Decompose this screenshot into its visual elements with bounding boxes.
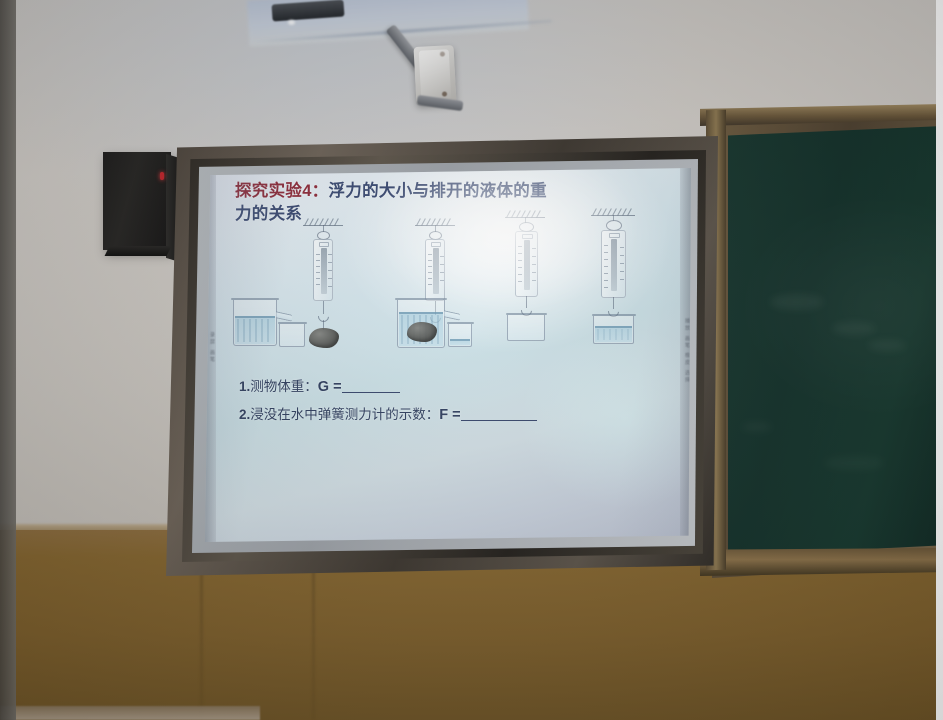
bullet-variable: F =: [439, 407, 460, 423]
setup-1-weigh-object-in-air: [227, 216, 352, 366]
left-edge-shadow: [0, 0, 16, 720]
beaker-spout: [444, 310, 460, 320]
collecting-cup: [279, 324, 305, 347]
list-item: 2.浸没在水中弹簧测力计的示数：F =: [239, 401, 669, 429]
setup-4-weigh-cup-with-displaced-water: [561, 208, 661, 358]
answer-blank[interactable]: [342, 381, 400, 393]
chalkboard-chalk-tray: [700, 548, 943, 576]
slide-title-label-blue: 浮力的大小与排开的液体的重: [328, 182, 546, 200]
beaker-spout: [276, 311, 292, 321]
slide-title-label-red: 探究实验4：: [235, 182, 328, 200]
list-item: 1.测物体重：G =: [239, 373, 669, 401]
stone-object: [309, 328, 339, 348]
bullet-text: 浸没在水中弹簧测力计的示数：: [250, 407, 439, 422]
collecting-cup: [448, 324, 472, 347]
classroom-photo: 录屏 画笔 播放 画笔 橡皮 选择 探究实验4：浮力的大小与排开的液体的重 力的…: [0, 0, 943, 720]
slide-bullets: 1.测物体重：G = 2.浸没在水中弹簧测力计的示数：F =: [239, 373, 669, 430]
chalkboard-surface[interactable]: [728, 126, 943, 556]
board-assembly: 录屏 画笔 播放 画笔 橡皮 选择 探究实验4：浮力的大小与排开的液体的重 力的…: [0, 0, 943, 720]
spring-scale: [515, 231, 538, 297]
setup-2-object-submerged: [345, 216, 470, 366]
spring-scale: [425, 239, 445, 301]
empty-cup: [507, 315, 545, 341]
bullet-variable: G =: [318, 379, 342, 395]
slide-content: 探究实验4：浮力的大小与排开的液体的重 力的关系: [205, 168, 691, 542]
spring-scale: [313, 239, 333, 301]
bullet-number: 2.: [239, 407, 250, 422]
overflow-beaker: [233, 300, 277, 346]
setup-3-weigh-empty-cup: [479, 210, 569, 360]
projected-screen[interactable]: 录屏 画笔 播放 画笔 橡皮 选择 探究实验4：浮力的大小与排开的液体的重 力的…: [205, 168, 691, 542]
experiment-diagrams: [227, 216, 677, 366]
answer-blank[interactable]: [461, 409, 537, 421]
bullet-text: 测物体重：: [250, 379, 318, 394]
spring-scale: [601, 230, 626, 298]
cup-with-water: [593, 316, 634, 344]
right-edge-border: [936, 0, 943, 720]
bullet-number: 1.: [239, 379, 250, 394]
stone-submerged: [407, 322, 437, 342]
